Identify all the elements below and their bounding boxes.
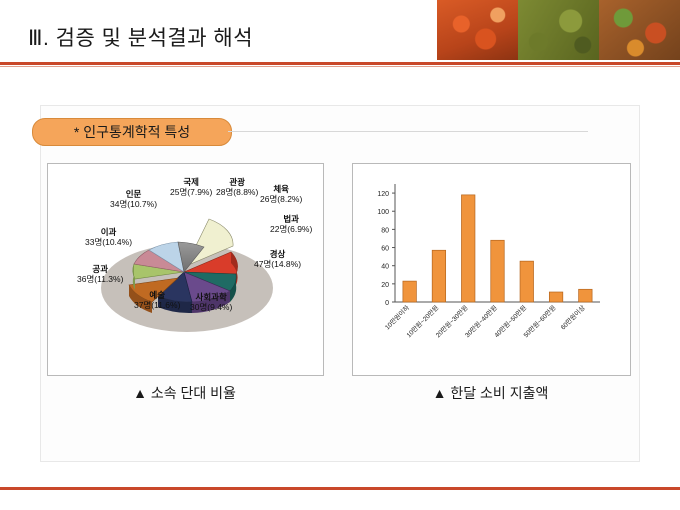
pie-label-cheyuk-name: 체육 — [260, 184, 302, 194]
pie-label-yesul: 예술 37명(11.6%) — [134, 290, 180, 310]
title-divider — [0, 62, 680, 65]
pie-label-inmun-value: 34명(10.7%) — [110, 199, 157, 209]
pie-label-sahoegwahak: 사회과학 30명(9.4%) — [190, 292, 232, 312]
pie-label-igwa: 이과 33명(10.4%) — [85, 227, 132, 247]
title-divider-thin — [0, 66, 680, 67]
pie-label-gonggwa-name: 공과 — [77, 264, 123, 274]
bar-y-tick: 80 — [381, 227, 389, 234]
pie-label-inmun: 인문 34명(10.7%) — [110, 189, 157, 209]
pie-label-gwangwang: 관광 28명(8.8%) — [216, 177, 258, 197]
pie-label-beopgwa-value: 22명(6.9%) — [270, 224, 312, 234]
pie-label-gonggwa-value: 36명(11.3%) — [77, 274, 123, 284]
pie-label-gukje-name: 국제 — [170, 177, 212, 187]
pie-label-yesul-name: 예술 — [134, 290, 180, 300]
bar-chart-box: 02040608010012010만원이하10만원~20만원20만원~30만원3… — [352, 163, 631, 376]
bar-y-tick: 20 — [381, 282, 389, 289]
pie-label-igwa-value: 33명(10.4%) — [85, 237, 132, 247]
bar-y-tick: 0 — [385, 300, 389, 307]
bar-0 — [403, 281, 416, 302]
pie-label-beopgwa-name: 법과 — [270, 214, 312, 224]
bar-y-tick: 40 — [381, 264, 389, 271]
bar-y-tick: 60 — [381, 246, 389, 253]
bar-x-tick-6: 60만원이상 — [558, 303, 586, 331]
header-photo-2 — [518, 0, 599, 60]
pie-label-gyeongsang-name: 경상 — [254, 249, 301, 259]
bar-chart-caption: ▲ 한달 소비 지출액 — [352, 383, 629, 403]
pie-label-cheyuk-value: 26명(8.2%) — [260, 194, 302, 204]
pie-label-beopgwa: 법과 22명(6.9%) — [270, 214, 312, 234]
bar-2 — [461, 195, 474, 302]
footer-divider — [0, 487, 680, 490]
bar-chart-svg: 02040608010012010만원이하10만원~20만원20만원~30만원3… — [353, 164, 628, 373]
pie-label-sahoegwahak-name: 사회과학 — [190, 292, 232, 302]
pie-label-gwangwang-name: 관광 — [216, 177, 258, 187]
pie-label-cheyuk: 체육 26명(8.2%) — [260, 184, 302, 204]
header-photo-1 — [437, 0, 518, 60]
bar-4 — [520, 261, 533, 302]
section-badge: * 인구통계학적 특성 — [32, 118, 232, 146]
pie-label-gonggwa: 공과 36명(11.3%) — [77, 264, 123, 284]
badge-underline — [228, 131, 588, 132]
header-photo-3 — [599, 0, 680, 60]
pie-label-gukje-value: 25명(7.9%) — [170, 187, 212, 197]
bar-3 — [491, 240, 504, 302]
pie-label-inmun-name: 인문 — [110, 189, 157, 199]
bar-y-tick: 120 — [377, 191, 389, 198]
pie-chart-box: 국제 25명(7.9%) 관광 28명(8.8%) 체육 26명(8.2%) 법… — [47, 163, 324, 376]
header-photo-strip — [437, 0, 680, 60]
pie-label-gyeongsang: 경상 47명(14.8%) — [254, 249, 301, 269]
bar-plot-area: 02040608010012010만원이하10만원~20만원20만원~30만원3… — [377, 184, 600, 339]
section-badge-label: * 인구통계학적 특성 — [74, 122, 190, 142]
pie-label-gwangwang-value: 28명(8.8%) — [216, 187, 258, 197]
bar-5 — [549, 292, 562, 302]
bar-1 — [432, 250, 445, 302]
pie-label-igwa-name: 이과 — [85, 227, 132, 237]
pie-label-gyeongsang-value: 47명(14.8%) — [254, 259, 301, 269]
pie-label-yesul-value: 37명(11.6%) — [134, 300, 180, 310]
bar-6 — [579, 289, 592, 302]
bar-y-tick: 100 — [377, 209, 389, 216]
pie-chart-caption: ▲ 소속 단대 비율 — [47, 383, 322, 403]
pie-label-gukje: 국제 25명(7.9%) — [170, 177, 212, 197]
page-title: Ⅲ. 검증 및 분석결과 해석 — [28, 22, 253, 52]
bar-x-tick-0: 10만원이하 — [383, 303, 411, 331]
pie-label-sahoegwahak-value: 30명(9.4%) — [190, 302, 232, 312]
